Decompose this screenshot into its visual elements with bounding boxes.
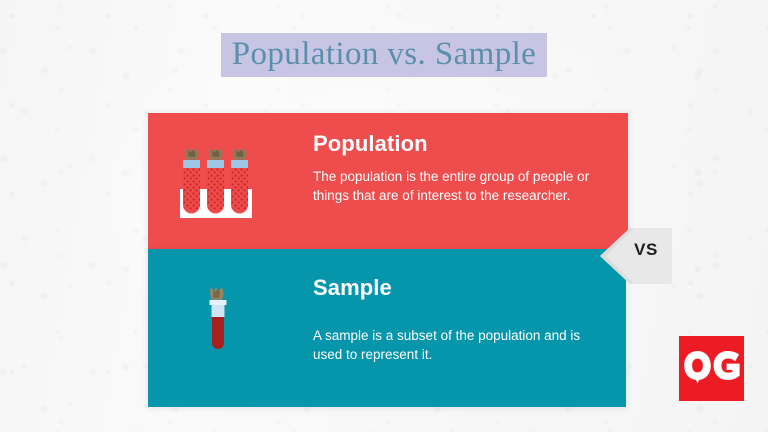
page-title: Population vs. Sample: [221, 33, 547, 77]
test-tube-rack-icon: [180, 144, 252, 218]
panel-sample-description: A sample is a subset of the population a…: [313, 327, 598, 364]
panel-population-heading: Population: [313, 131, 428, 157]
panel-sample[interactable]: Sample A sample is a subset of the popul…: [148, 249, 626, 407]
slide-canvas: Population vs. Sample: [0, 0, 768, 432]
panel-sample-heading: Sample: [313, 275, 392, 301]
panel-population-body: Population The population is the entire …: [148, 113, 628, 249]
page-title-wrapper: Population vs. Sample: [0, 33, 768, 77]
test-tube-icon: [200, 283, 236, 357]
panel-sample-body: Sample A sample is a subset of the popul…: [148, 249, 626, 407]
qg-logo[interactable]: [679, 336, 744, 401]
vs-label: VS: [624, 240, 668, 260]
panel-population[interactable]: Population The population is the entire …: [148, 113, 628, 249]
panel-population-description: The population is the entire group of pe…: [313, 168, 600, 205]
